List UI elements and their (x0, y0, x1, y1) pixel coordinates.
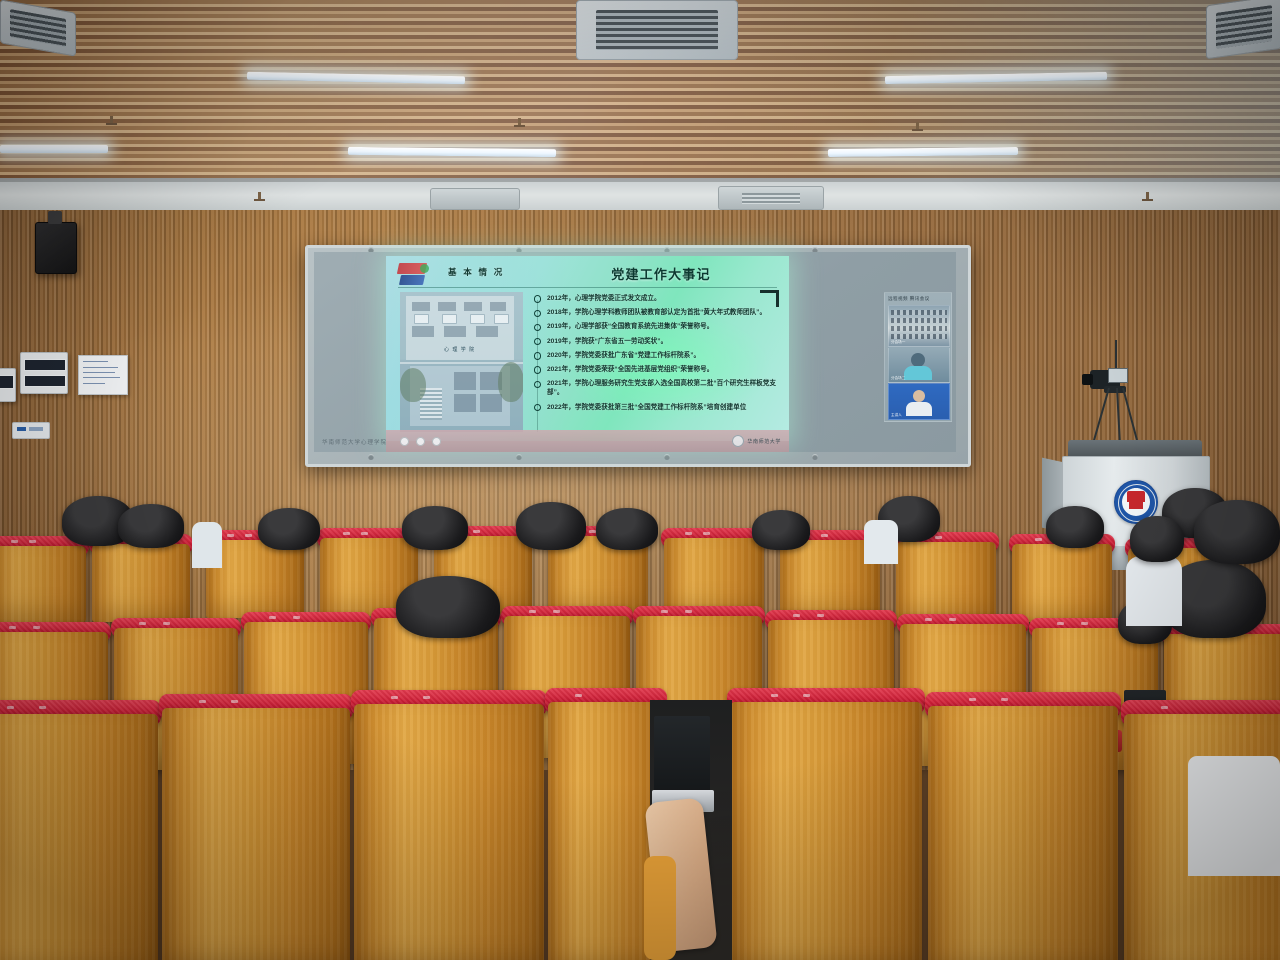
vc-tile-speaker[interactable]: 分会场二 (888, 347, 950, 383)
vc-tile-gallery[interactable]: 分会场一 (888, 305, 950, 347)
sprinkler-icon (518, 118, 521, 127)
attendee-shirt (1126, 556, 1182, 626)
attendee-head (402, 506, 468, 550)
university-logo-text: 华南师范大学 (747, 438, 781, 445)
list-item: 2021年，学院心理服务研究生党支部入选全国高校第二批“百个研究生样板党支部”。 (534, 379, 778, 397)
attendee-shirt (1188, 756, 1280, 876)
auditorium-seat[interactable] (730, 688, 922, 960)
lecture-hall-photo: 基 本 情 况 党建工作大事记 心 理 学 院 (0, 0, 1280, 960)
list-item: 2021年，学院党委荣获“全国先进基层党组织”荣誉称号。 (534, 365, 778, 374)
bullet-ring-icon (534, 295, 541, 302)
bullet-text: 2022年，学院党委获批第三批“全国党建工作标杆院系”培育创建单位 (547, 404, 746, 411)
bullet-text: 2019年，学院获“广东省五一劳动奖状”。 (547, 338, 667, 345)
bullet-ring-icon (534, 366, 541, 373)
electrical-control-panel[interactable] (0, 368, 16, 402)
university-seal-icon (732, 435, 744, 447)
bullet-ring-icon (534, 352, 541, 359)
attendee-shirt (864, 520, 898, 564)
auditorium-seat[interactable] (896, 532, 996, 620)
slide-divider (398, 287, 777, 288)
attendee-head (516, 502, 586, 550)
presentation-slide: 基 本 情 况 党建工作大事记 心 理 学 院 (386, 256, 789, 441)
auditorium-seat[interactable] (0, 700, 158, 960)
ceiling-vent-icon (1206, 0, 1280, 59)
attendee-head (396, 576, 500, 638)
screen-watermark: 华南师范大学心理学院 (322, 438, 387, 446)
bullet-text: 2018年，学院心理学科教师团队被教育部认定为首批“黄大年式教师团队”。 (547, 309, 766, 316)
wall-speaker-icon (35, 222, 77, 274)
attendee-head (1046, 506, 1104, 548)
attendee-head (258, 508, 320, 550)
list-item: 2012年，心理学院党委正式发文成立。 (534, 294, 778, 303)
slide-bottom-bar: 华南师范大学 (386, 430, 789, 452)
soffit-vent-icon (718, 186, 824, 210)
attendee-sleeve (644, 856, 676, 960)
slide-nav-dot[interactable] (400, 437, 409, 446)
slide-nav-dot[interactable] (416, 437, 425, 446)
electrical-control-panel[interactable] (20, 352, 68, 394)
list-item: 2022年，学院党委获批第三批“全国党建工作标杆院系”培育创建单位 (534, 403, 778, 412)
vc-panel-header: 远程视频 腾讯会议 (888, 296, 930, 302)
slide-photo-caption: 心 理 学 院 (444, 346, 475, 353)
list-item: 2019年，学院获“广东省五一劳动奖状”。 (534, 337, 778, 346)
ceiling-light-fixture (0, 145, 108, 153)
university-logo-footer: 华南师范大学 (732, 435, 781, 447)
sprinkler-icon (110, 116, 113, 125)
vc-tile-label: 分会场二 (891, 376, 905, 381)
wall-switch-plate[interactable] (12, 422, 50, 439)
bullet-ring-icon (534, 338, 541, 345)
list-item: 2020年，学院党委获批广东省“党建工作标杆院系”。 (534, 351, 778, 360)
bullet-text: 2019年，心理学部获“全国教育系统先进集体”荣誉称号。 (547, 323, 713, 330)
wall-notice-sheet (78, 355, 128, 395)
slide-nav-dot[interactable] (432, 437, 441, 446)
vc-tile-label: 主讲人 (891, 413, 902, 418)
sprinkler-icon (1146, 192, 1149, 201)
auditorium-seat[interactable] (0, 536, 86, 622)
desk-monitor-device (654, 716, 710, 792)
auditorium-seat[interactable] (354, 690, 544, 960)
bullet-ring-icon (534, 404, 541, 411)
bullet-text: 2021年，学院心理服务研究生党支部入选全国高校第二批“百个研究生样板党支部”。 (547, 380, 776, 396)
bullet-ring-icon (534, 310, 541, 317)
bullet-text: 2020年，学院党委获批广东省“党建工作标杆院系”。 (547, 352, 700, 359)
vc-tile-label: 分会场一 (891, 340, 905, 345)
soffit-vent-icon (430, 188, 520, 210)
auditorium-seat[interactable] (162, 694, 350, 960)
sprinkler-icon (916, 122, 919, 131)
attendee-head (1130, 516, 1184, 562)
bullet-text: 2012年，心理学院党委正式发文成立。 (547, 295, 661, 302)
auditorium-seat[interactable] (664, 528, 764, 616)
list-item: 2019年，心理学部获“全国教育系统先进集体”荣誉称号。 (534, 322, 778, 331)
attendee-head (752, 510, 810, 550)
bullet-text: 2021年，学院党委荣获“全国先进基层党组织”荣誉称号。 (547, 366, 713, 373)
video-conference-panel[interactable]: 远程视频 腾讯会议 分会场一 分会场二 主讲人 (884, 292, 952, 422)
slide-brand-logo-icon (398, 262, 436, 288)
ceiling-vent-icon (576, 0, 738, 60)
vc-tile-presenter[interactable]: 主讲人 (888, 383, 950, 420)
attendee-head (1194, 500, 1280, 564)
slide-title: 党建工作大事记 (536, 264, 786, 283)
attendee-head (118, 504, 184, 548)
bullet-ring-icon (534, 381, 541, 388)
bullet-ring-icon (534, 324, 541, 331)
attendee-head (596, 508, 658, 550)
sprinkler-icon (258, 192, 261, 201)
auditorium-seat[interactable] (928, 692, 1118, 960)
slide-section-tab: 基 本 情 况 (448, 266, 505, 278)
slide-photo-collage: 心 理 学 院 (400, 292, 523, 432)
slide-bullet-list: 2012年，心理学院党委正式发文成立。 2018年，学院心理学科教师团队被教育部… (534, 294, 778, 417)
list-item: 2018年，学院心理学科教师团队被教育部认定为首批“黄大年式教师团队”。 (534, 308, 778, 317)
attendee-shirt (192, 522, 222, 568)
